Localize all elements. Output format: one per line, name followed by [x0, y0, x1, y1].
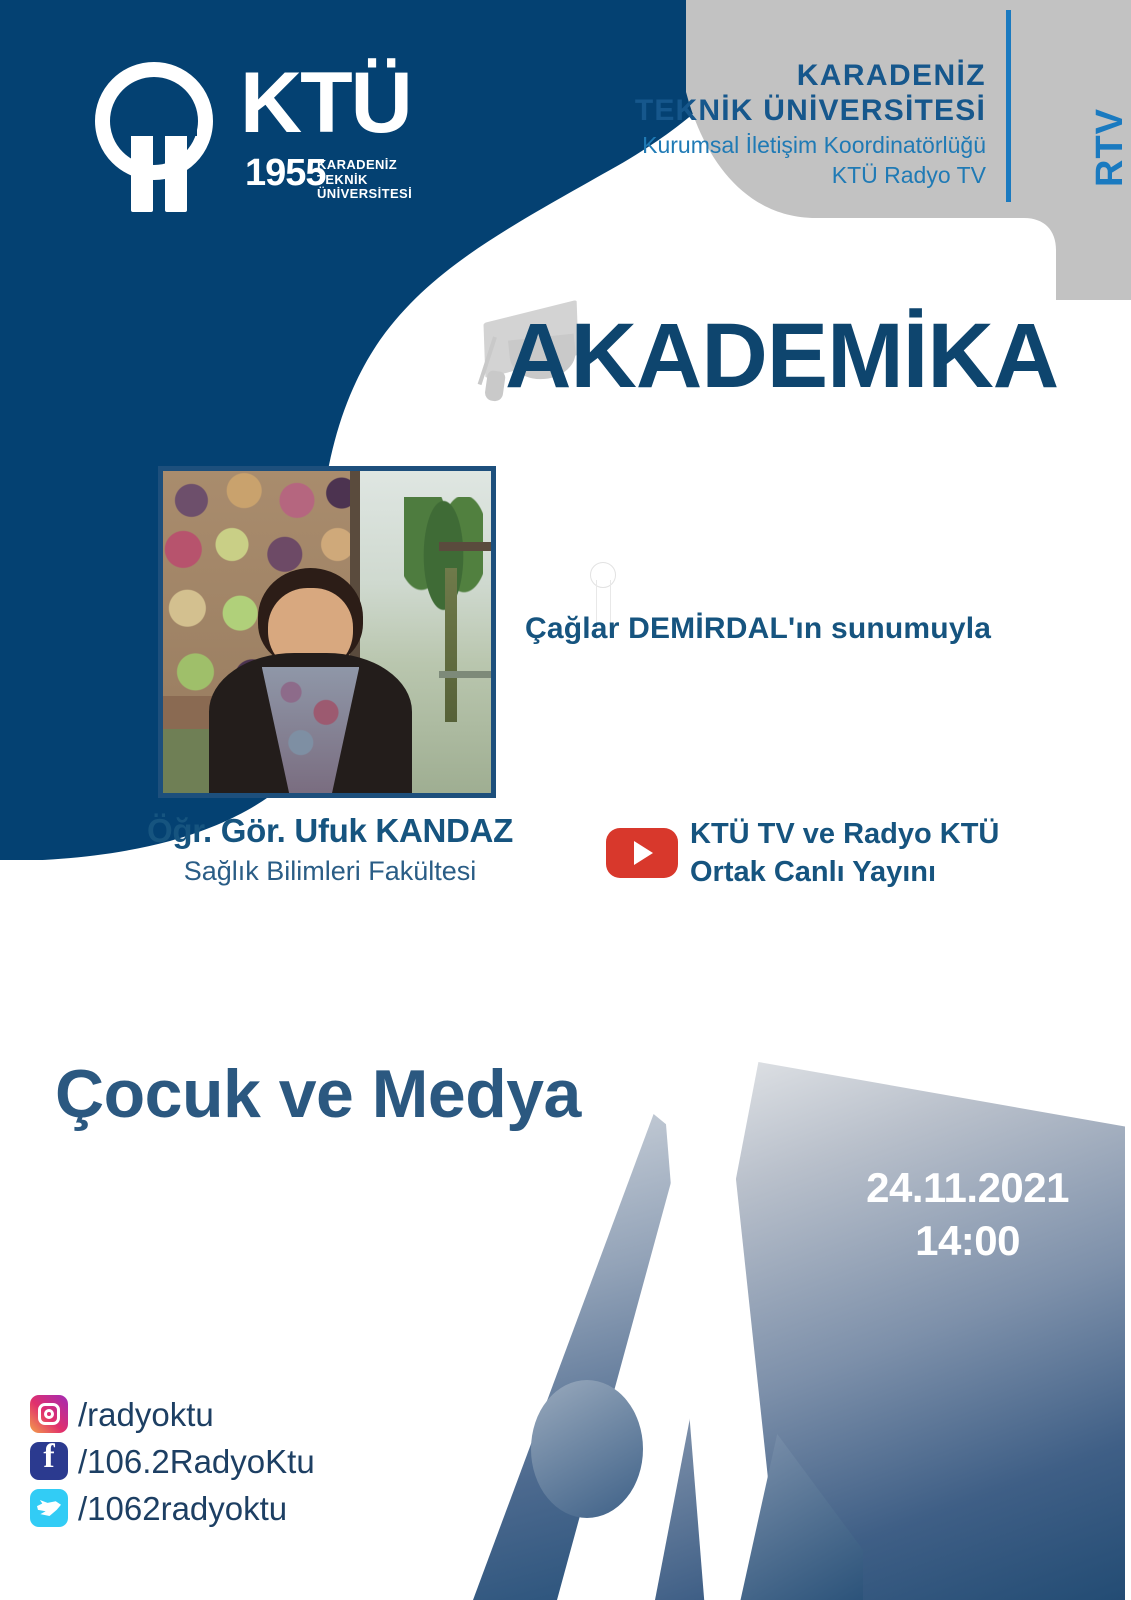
twitter-icon [30, 1489, 68, 1527]
broadcast-info: KTÜ TV ve Radyo KTÜ Ortak Canlı Yayını [690, 816, 999, 891]
episode-subject: Çocuk ve Medya [55, 1055, 581, 1133]
decorative-letter-a [455, 1062, 1131, 1600]
ktu-logo-subtitle: KARADENİZ TEKNİK ÜNİVERSİTESİ [317, 158, 425, 202]
akademika-event-poster: KTÜ 1955 KARADENİZ TEKNİK ÜNİVERSİTESİ K… [0, 0, 1131, 1600]
instagram-icon [30, 1395, 68, 1433]
institution-header: KARADENİZ TEKNİK ÜNİVERSİTESİ Kurumsal İ… [635, 58, 986, 191]
ktu-logo-subtitle-line1: KARADENİZ [317, 158, 425, 173]
twitter-handle: /1062radyoktu [78, 1492, 287, 1525]
ktu-founding-year: 1955 [245, 154, 326, 192]
broadcast-line-1: KTÜ TV ve Radyo KTÜ [690, 816, 999, 854]
institution-line-1: KARADENİZ [635, 58, 986, 93]
social-item-instagram[interactable]: /radyoktu [30, 1392, 315, 1436]
ktu-wordmark: KTÜ [240, 60, 411, 146]
unit-line-2: KTÜ Radyo TV [635, 161, 986, 191]
event-date: 24.11.2021 [866, 1162, 1069, 1215]
event-datetime: 24.11.2021 14:00 [866, 1162, 1069, 1267]
speaker-name: Öğr. Gör. Ufuk KANDAZ [100, 812, 560, 850]
facebook-icon [30, 1442, 68, 1480]
facebook-handle: /106.2RadyoKtu [78, 1445, 315, 1478]
youtube-play-icon [606, 828, 678, 878]
institution-line-2: TEKNİK ÜNİVERSİTESİ [635, 93, 986, 128]
speaker-photo [158, 466, 496, 798]
ktu-monogram-icon [95, 62, 227, 194]
social-item-twitter[interactable]: /1062radyoktu [30, 1486, 315, 1530]
instagram-handle: /radyoktu [78, 1398, 214, 1431]
ktu-logo: KTÜ 1955 KARADENİZ TEKNİK ÜNİVERSİTESİ [95, 62, 425, 212]
event-time: 14:00 [866, 1215, 1069, 1268]
social-links: /radyoktu /106.2RadyoKtu /1062radyoktu [30, 1392, 315, 1533]
speaker-faculty: Sağlık Bilimleri Fakültesi [100, 856, 560, 887]
header-divider [1006, 10, 1011, 202]
presenter-line: Çağlar DEMİRDAL'ın sunumuyla [525, 612, 991, 646]
rtv-vertical-tag: RTV [1089, 108, 1131, 187]
broadcast-line-2: Ortak Canlı Yayını [690, 854, 999, 892]
unit-line-1: Kurumsal İletişim Koordinatörlüğü [635, 131, 986, 161]
program-title: AKADEMİKA [505, 310, 1058, 402]
social-item-facebook[interactable]: /106.2RadyoKtu [30, 1439, 315, 1483]
ktu-logo-subtitle-line2: TEKNİK ÜNİVERSİTESİ [317, 173, 425, 202]
